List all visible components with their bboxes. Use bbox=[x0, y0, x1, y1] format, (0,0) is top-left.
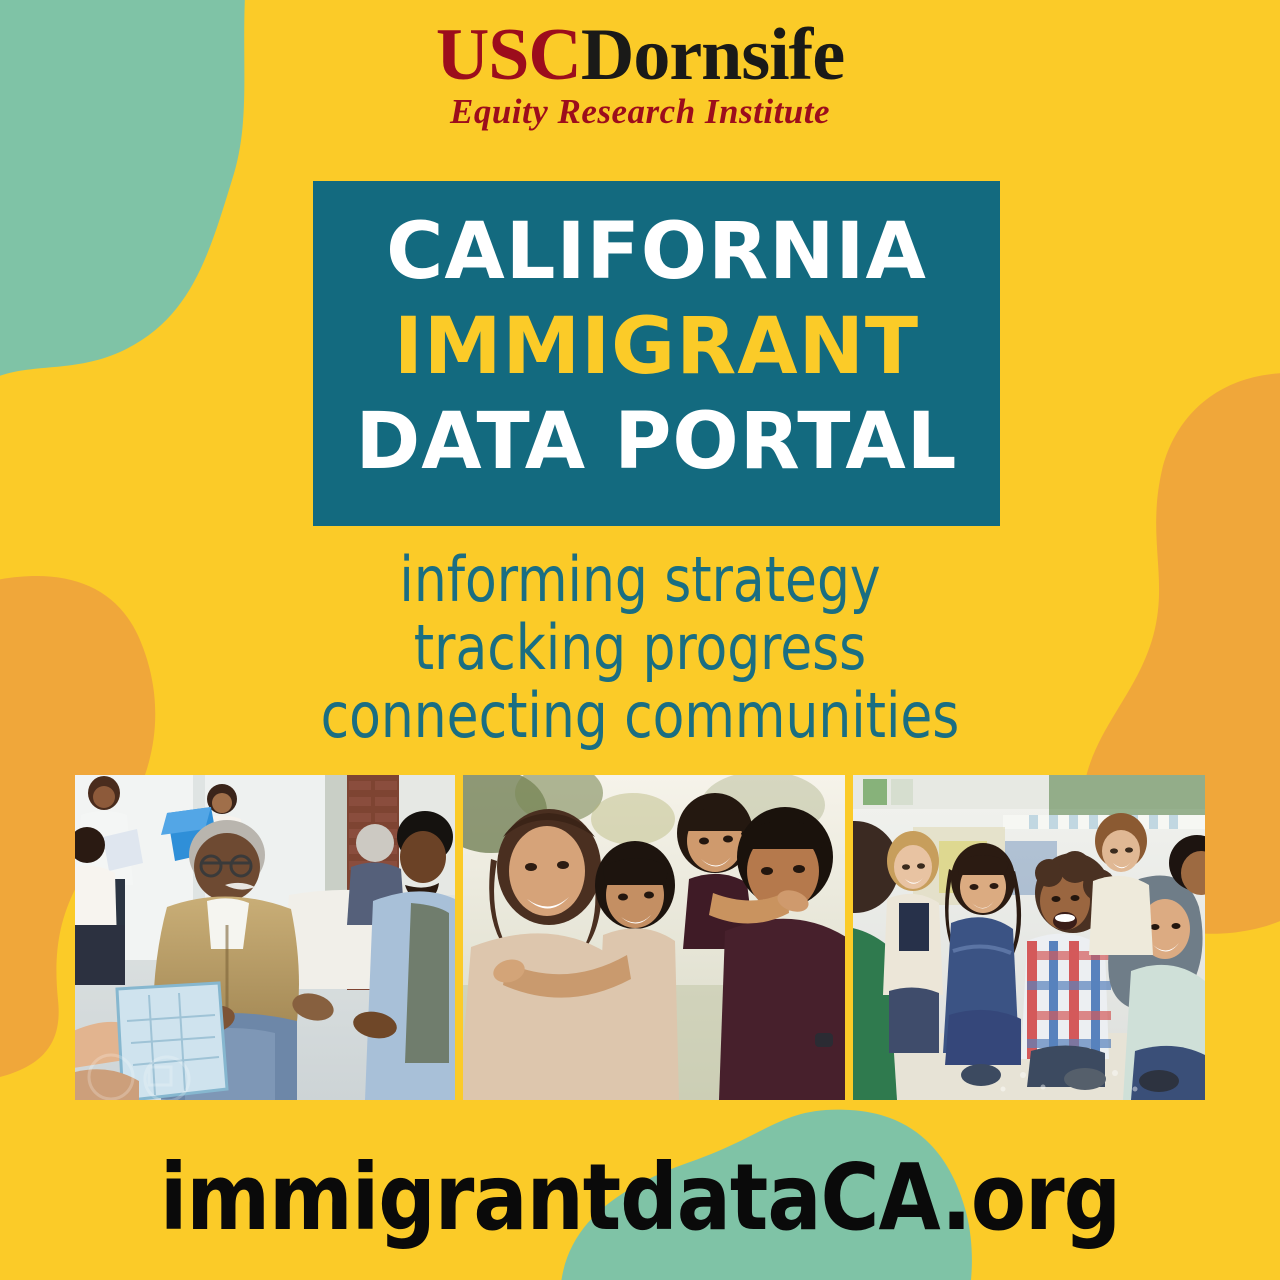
usc-dornsife-logo: USCDornsife Equity Research Institute bbox=[0, 18, 1280, 129]
logo-dornsife-text: Dornsife bbox=[581, 14, 844, 96]
title-line-california: CALIFORNIA bbox=[313, 205, 1000, 300]
tagline-line-connecting-communities: connecting communities bbox=[45, 682, 1235, 750]
title-line-data-portal: DATA PORTAL bbox=[313, 395, 1000, 490]
tagline-line-tracking-progress: tracking progress bbox=[45, 614, 1235, 682]
title-stack: CALIFORNIA IMMIGRANT DATA PORTAL bbox=[313, 205, 1000, 490]
photo-community-meeting bbox=[75, 775, 455, 1100]
tagline-line-informing-strategy: informing strategy bbox=[45, 546, 1235, 614]
logo-wordmark: USCDornsife bbox=[0, 18, 1280, 92]
website-url[interactable]: immigrantdataCA.org bbox=[19, 1148, 1261, 1248]
logo-usc-text: USC bbox=[436, 14, 581, 96]
tagline: informing strategy tracking progress con… bbox=[0, 546, 1280, 750]
poster-canvas: USCDornsife Equity Research Institute CA… bbox=[0, 0, 1280, 1280]
photo-classroom-children bbox=[853, 775, 1205, 1100]
photo-family-portrait bbox=[463, 775, 845, 1100]
logo-subtitle: Equity Research Institute bbox=[0, 94, 1280, 129]
photo-strip bbox=[75, 775, 1205, 1100]
title-panel: CALIFORNIA IMMIGRANT DATA PORTAL bbox=[313, 181, 1000, 526]
title-line-immigrant: IMMIGRANT bbox=[313, 300, 1000, 395]
